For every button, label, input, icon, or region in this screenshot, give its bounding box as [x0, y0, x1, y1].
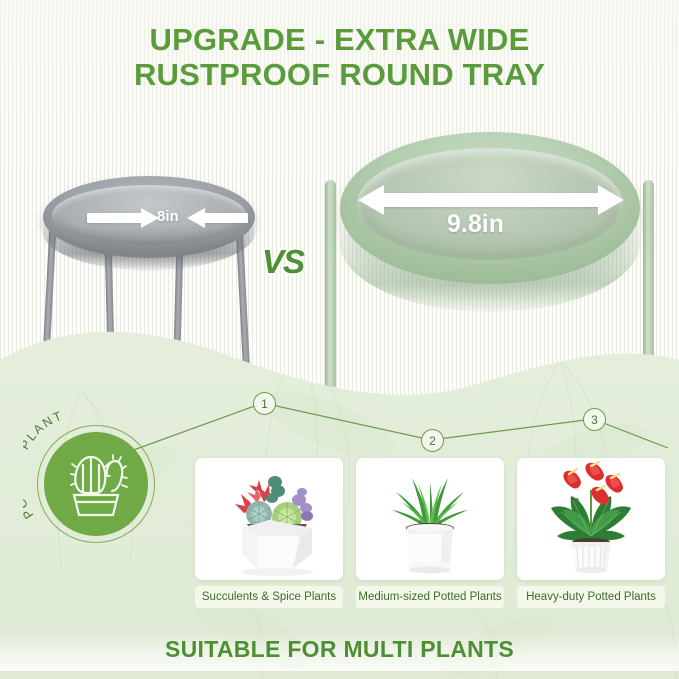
plant-card[interactable] [356, 458, 504, 580]
vs-label: VS [262, 243, 304, 281]
plant-card[interactable] [517, 458, 665, 580]
headline-line-1: UPGRADE - EXTRA WIDE [0, 22, 679, 57]
connector-node-1[interactable]: 1 [253, 392, 276, 415]
plant-card[interactable] [195, 458, 343, 580]
plant-card-list: Succulents & Spice Plants Medium-sized P… [195, 458, 665, 618]
new-tray-size-label: 9.8in [447, 210, 504, 239]
footer-tagline: SUITABLE FOR MULTI PLANTS [0, 636, 679, 663]
plant-card-label: Medium-sized Potted Plants [356, 586, 504, 608]
arrow-left-icon [187, 206, 205, 230]
connector-node-2[interactable]: 2 [421, 429, 444, 452]
succulent-hex-pot-image [195, 458, 343, 580]
arrow-left-icon [358, 183, 384, 217]
old-tray-size-label: 8in [157, 208, 179, 225]
plant-card-label: Heavy-duty Potted Plants [517, 586, 665, 608]
cactus-in-pot-icon [60, 447, 132, 521]
plant-card-label: Succulents & Spice Plants [195, 586, 343, 608]
anthurium-ribbed-pot-image [517, 458, 665, 580]
headline-line-2: RUSTPROOF ROUND TRAY [0, 57, 679, 92]
infographic-canvas: UPGRADE - EXTRA WIDE RUSTPROOF ROUND TRA… [0, 0, 679, 679]
page-title: UPGRADE - EXTRA WIDE RUSTPROOF ROUND TRA… [0, 22, 679, 92]
aloe-round-pot-image [356, 458, 504, 580]
potted-plant-badge: POTTED PLANT [37, 425, 155, 543]
badge-text-content: POTTED PLANT [23, 411, 65, 521]
connector-node-3[interactable]: 3 [583, 408, 606, 431]
arrow-right-icon [598, 183, 624, 217]
